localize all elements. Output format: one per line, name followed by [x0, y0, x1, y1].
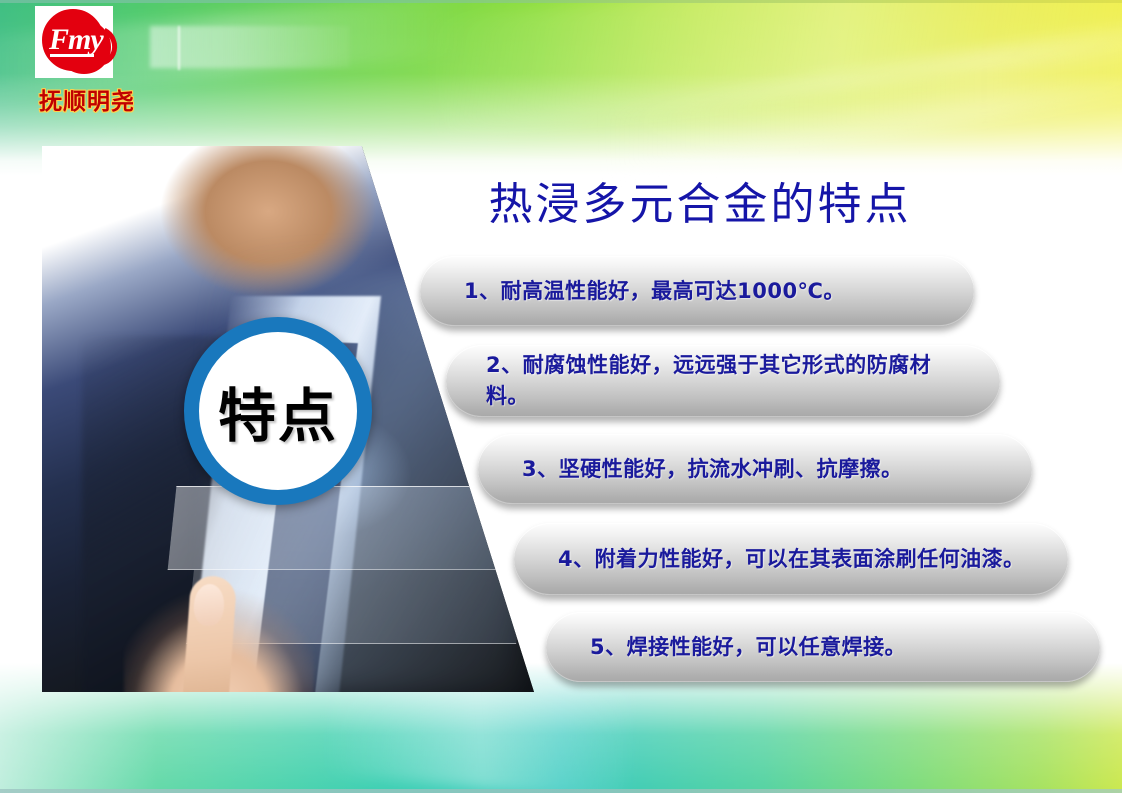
feature-pill-label: 4、附着力性能好，可以在其表面涂刷任何油漆。	[514, 544, 1051, 575]
feature-pill-label: 2、耐腐蚀性能好，远远强于其它形式的防腐材料。	[446, 350, 1000, 412]
feature-pill-label: 5、焊接性能好，可以任意焊接。	[546, 632, 906, 663]
feature-pill[interactable]: 5、焊接性能好，可以任意焊接。	[546, 612, 1100, 682]
feature-pill-label: 1、耐高温性能好，最高可达1000℃。	[420, 276, 845, 307]
feature-pill[interactable]: 3、坚硬性能好，抗流水冲刷、抗摩擦。	[478, 434, 1032, 504]
logo-monogram: Fmy	[49, 18, 115, 64]
feature-pill[interactable]: 2、耐腐蚀性能好，远远强于其它形式的防腐材料。	[446, 345, 1000, 417]
presentation-slide: Fmy 抚顺明尧 特点 热浸多元合金的特点 1、耐高温性能好，最高可达1000℃…	[0, 0, 1122, 793]
feature-pill-label: 3、坚硬性能好，抗流水冲刷、抗摩擦。	[478, 454, 903, 485]
logo-underline-shape	[50, 54, 94, 57]
header-highlight-line	[178, 26, 180, 70]
photo-hud-panel	[168, 486, 507, 570]
logo-mark-icon: Fmy	[35, 6, 113, 78]
company-name: 抚顺明尧	[22, 82, 152, 116]
header-highlight-band	[150, 26, 350, 68]
page-title: 热浸多元合金的特点	[430, 168, 970, 232]
slide-top-border	[0, 0, 1122, 3]
feature-pill[interactable]: 1、耐高温性能好，最高可达1000℃。	[420, 256, 974, 326]
feature-circle-badge-label: 特点	[218, 369, 338, 453]
company-logo: Fmy 抚顺明尧	[22, 4, 152, 122]
feature-pill[interactable]: 4、附着力性能好，可以在其表面涂刷任何油漆。	[514, 523, 1068, 595]
slide-bottom-border	[0, 789, 1122, 793]
feature-circle-badge: 特点	[184, 317, 372, 505]
